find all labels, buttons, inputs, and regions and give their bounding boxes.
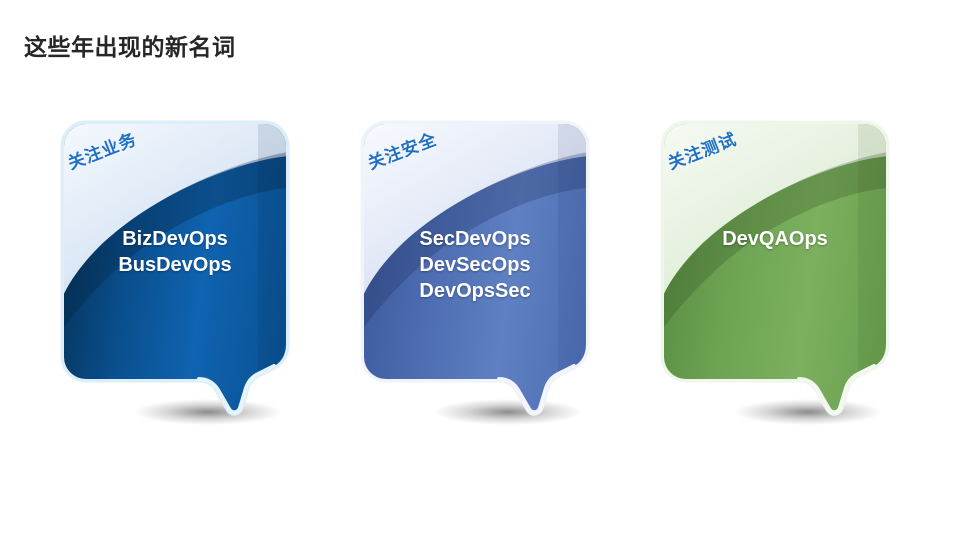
bubble-shape-secdevops xyxy=(362,122,588,414)
bubble-shape-bizdevops xyxy=(62,122,288,414)
speech-bubble-bizdevops[interactable]: 关注业务 BizDevOps BusDevOps xyxy=(62,122,288,414)
slide-canvas: 这些年出现的新名词 xyxy=(0,0,959,539)
speech-bubble-devqaops[interactable]: 关注测试 DevQAOps xyxy=(662,122,888,414)
speech-bubble-secdevops[interactable]: 关注安全 SecDevOps DevSecOps DevOpsSec xyxy=(362,122,588,414)
bubble-shape-devqaops xyxy=(662,122,888,414)
page-title: 这些年出现的新名词 xyxy=(24,28,236,62)
